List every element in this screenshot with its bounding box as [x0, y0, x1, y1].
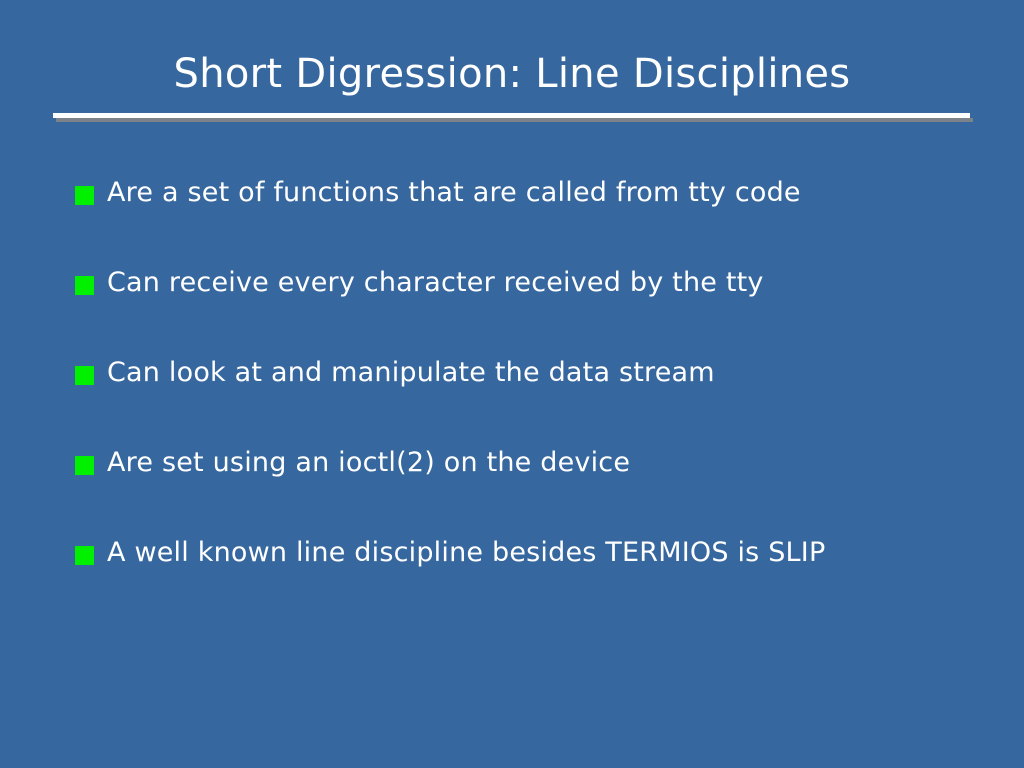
- list-item: A well known line discipline besides TER…: [75, 530, 995, 620]
- square-bullet-icon: [75, 546, 94, 565]
- list-item: Can look at and manipulate the data stre…: [75, 350, 995, 440]
- presentation-slide: Short Digression: Line Disciplines Are a…: [0, 0, 1024, 768]
- list-item-label: Can look at and manipulate the data stre…: [107, 350, 995, 396]
- square-bullet-icon: [75, 276, 94, 295]
- bullet-list: Are a set of functions that are called f…: [75, 170, 995, 620]
- square-bullet-icon: [75, 366, 94, 385]
- list-item-label: Are set using an ioctl(2) on the device: [107, 440, 995, 486]
- square-bullet-icon: [75, 186, 94, 205]
- title-underline-rule: [53, 113, 970, 122]
- list-item: Can receive every character received by …: [75, 260, 995, 350]
- list-item-label: Are a set of functions that are called f…: [107, 170, 995, 216]
- page-title: Short Digression: Line Disciplines: [0, 46, 1024, 102]
- list-item-label: Can receive every character received by …: [107, 260, 995, 306]
- list-item: Are a set of functions that are called f…: [75, 170, 995, 260]
- list-item-label: A well known line discipline besides TER…: [107, 530, 995, 576]
- list-item: Are set using an ioctl(2) on the device: [75, 440, 995, 530]
- title-rule-shadow: [56, 118, 973, 122]
- square-bullet-icon: [75, 456, 94, 475]
